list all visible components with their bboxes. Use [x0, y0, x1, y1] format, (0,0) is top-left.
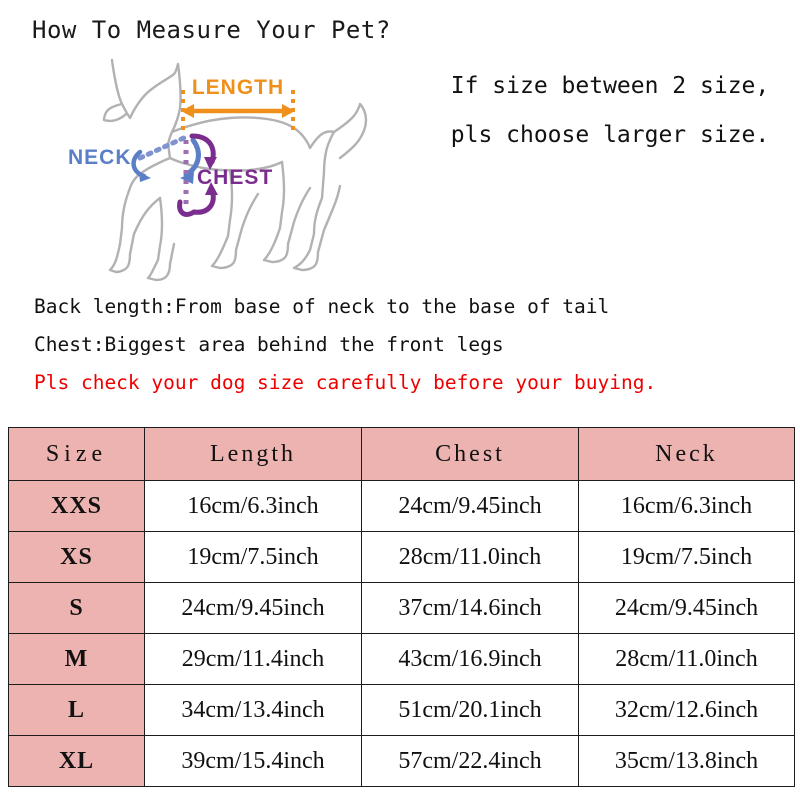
cell-chest: 51cm/20.1inch	[362, 685, 579, 736]
back-length-description: Back length:From base of neck to the bas…	[34, 288, 774, 326]
size-note: If size between 2 size, pls choose large…	[432, 62, 788, 160]
cell-neck: 28cm/11.0inch	[579, 634, 795, 685]
cell-size: M	[9, 634, 145, 685]
table-row: XL 39cm/15.4inch 57cm/22.4inch 35cm/13.8…	[9, 736, 795, 787]
cell-length: 24cm/9.45inch	[145, 583, 362, 634]
cell-size: S	[9, 583, 145, 634]
table-row: S 24cm/9.45inch 37cm/14.6inch 24cm/9.45i…	[9, 583, 795, 634]
cell-size: XS	[9, 532, 145, 583]
table-row: M 29cm/11.4inch 43cm/16.9inch 28cm/11.0i…	[9, 634, 795, 685]
size-check-warning: Pls check your dog size carefully before…	[34, 364, 774, 402]
cell-neck: 24cm/9.45inch	[579, 583, 795, 634]
cell-length: 39cm/15.4inch	[145, 736, 362, 787]
measurement-instructions: Back length:From base of neck to the bas…	[34, 288, 774, 402]
cell-chest: 28cm/11.0inch	[362, 532, 579, 583]
page-title: How To Measure Your Pet?	[32, 16, 391, 44]
header-size: Size	[9, 428, 145, 481]
cell-neck: 32cm/12.6inch	[579, 685, 795, 736]
cell-length: 16cm/6.3inch	[145, 481, 362, 532]
table-header-row: Size Length Chest Neck	[9, 428, 795, 481]
cell-chest: 24cm/9.45inch	[362, 481, 579, 532]
cell-size: XL	[9, 736, 145, 787]
size-note-line-1: If size between 2 size,	[432, 62, 788, 111]
header-length: Length	[145, 428, 362, 481]
cell-size: XXS	[9, 481, 145, 532]
cell-chest: 37cm/14.6inch	[362, 583, 579, 634]
table-row: XS 19cm/7.5inch 28cm/11.0inch 19cm/7.5in…	[9, 532, 795, 583]
cell-length: 19cm/7.5inch	[145, 532, 362, 583]
cell-neck: 16cm/6.3inch	[579, 481, 795, 532]
cell-length: 29cm/11.4inch	[145, 634, 362, 685]
header-neck: Neck	[579, 428, 795, 481]
cell-neck: 35cm/13.8inch	[579, 736, 795, 787]
cell-length: 34cm/13.4inch	[145, 685, 362, 736]
dog-measurement-diagram: LENGTH NECK CHEST	[60, 48, 400, 293]
size-chart-table: Size Length Chest Neck XXS 16cm/6.3inch …	[8, 427, 794, 787]
size-note-line-2: pls choose larger size.	[432, 111, 788, 160]
cell-neck: 19cm/7.5inch	[579, 532, 795, 583]
length-label: LENGTH	[192, 76, 284, 99]
chest-label: CHEST	[197, 166, 273, 189]
table-row: XXS 16cm/6.3inch 24cm/9.45inch 16cm/6.3i…	[9, 481, 795, 532]
neck-label: NECK	[68, 146, 132, 169]
header-chest: Chest	[362, 428, 579, 481]
chest-description: Chest:Biggest area behind the front legs	[34, 326, 774, 364]
cell-chest: 43cm/16.9inch	[362, 634, 579, 685]
cell-size: L	[9, 685, 145, 736]
table-row: L 34cm/13.4inch 51cm/20.1inch 32cm/12.6i…	[9, 685, 795, 736]
cell-chest: 57cm/22.4inch	[362, 736, 579, 787]
